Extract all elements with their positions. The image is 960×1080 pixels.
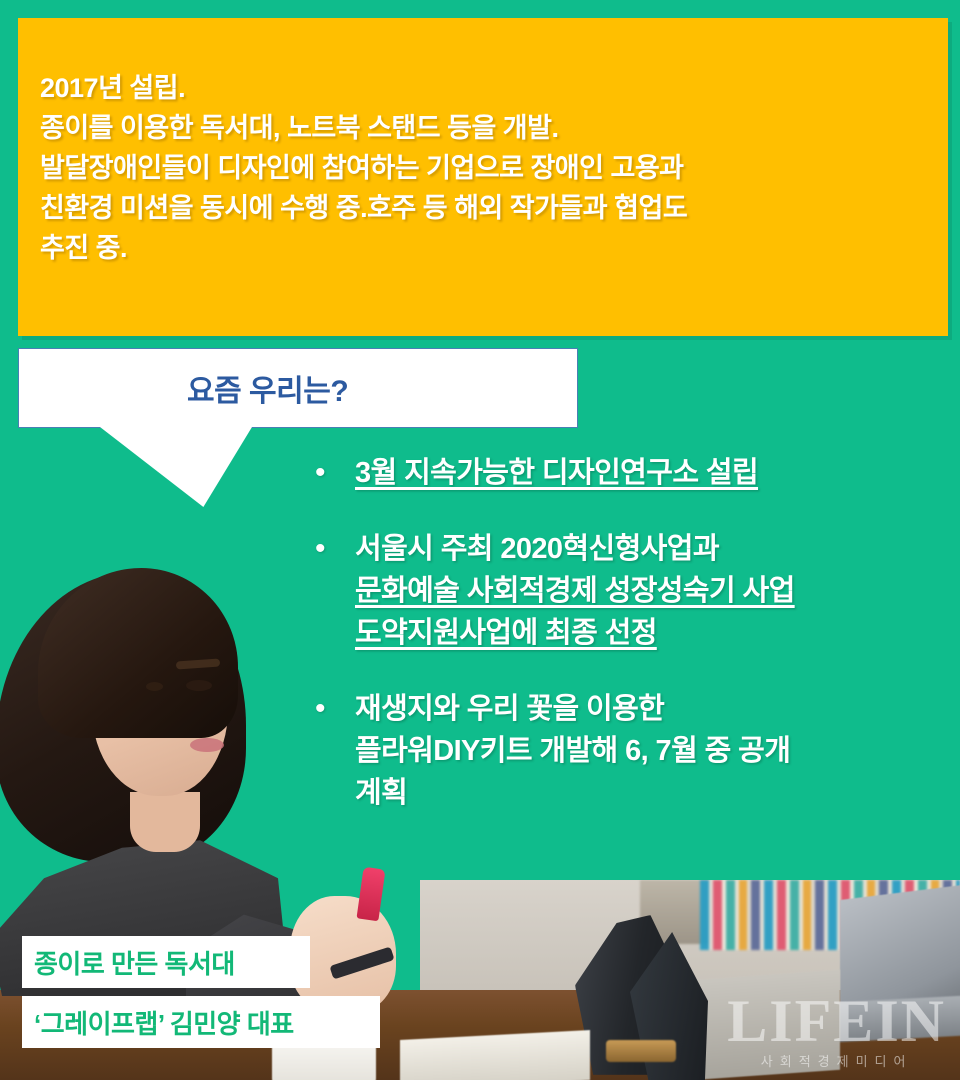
- news-bullet-list: • 3월 지속가능한 디자인연구소 설립 • 서울시 주최 2020혁신형사업과…: [315, 452, 955, 848]
- eye-right: [186, 680, 212, 691]
- bullet-text-block: 서울시 주최 2020혁신형사업과 문화예술 사회적경제 성장성숙기 사업 도약…: [355, 528, 955, 654]
- lips: [190, 738, 224, 752]
- list-item: • 재생지와 우리 꽃을 이용한 플라워DIY키트 개발해 6, 7월 중 공개…: [315, 688, 955, 814]
- eye-left: [146, 682, 163, 691]
- person-photo-kim-min-yang: [0, 556, 290, 986]
- bullet-line: 계획: [355, 772, 955, 814]
- intro-yellow-box: 2017년 설립. 종이를 이용한 독서대, 노트북 스탠드 등을 개발. 발달…: [18, 18, 948, 336]
- intro-paragraph: 2017년 설립. 종이를 이용한 독서대, 노트북 스탠드 등을 개발. 발달…: [40, 68, 920, 268]
- bullet-text-block: 재생지와 우리 꽃을 이용한 플라워DIY키트 개발해 6, 7월 중 공개 계…: [355, 688, 955, 814]
- bullet-dot-icon: •: [315, 528, 355, 654]
- neck: [130, 792, 200, 852]
- caption-product: 종이로 만든 독서대: [22, 936, 310, 988]
- bullet-text-block: 3월 지속가능한 디자인연구소 설립: [355, 452, 955, 494]
- caption-person: ‘그레이프랩’ 김민양 대표: [22, 996, 380, 1048]
- bullet-dot-icon: •: [315, 688, 355, 814]
- bullet-line: 도약지원사업에 최종 선정: [355, 612, 955, 654]
- bullet-line: 재생지와 우리 꽃을 이용한: [355, 688, 955, 730]
- bullet-dot-icon: •: [315, 452, 355, 494]
- speech-bubble-title: 요즘 우리는?: [187, 366, 348, 410]
- wristwatch: [606, 1040, 676, 1062]
- bullet-line: 3월 지속가능한 디자인연구소 설립: [355, 452, 955, 494]
- bullet-line: 문화예술 사회적경제 성장성숙기 사업: [355, 570, 955, 612]
- document-holder: [690, 970, 840, 1080]
- bullet-line: 플라워DIY키트 개발해 6, 7월 중 공개: [355, 730, 955, 772]
- speech-bubble: 요즘 우리는?: [18, 348, 578, 428]
- list-item: • 3월 지속가능한 디자인연구소 설립: [315, 452, 955, 494]
- infographic-card: 2017년 설립. 종이를 이용한 독서대, 노트북 스탠드 등을 개발. 발달…: [0, 0, 960, 1080]
- bullet-line: 서울시 주최 2020혁신형사업과: [355, 528, 955, 570]
- open-notebook: [400, 1030, 590, 1080]
- list-item: • 서울시 주최 2020혁신형사업과 문화예술 사회적경제 성장성숙기 사업 …: [315, 528, 955, 654]
